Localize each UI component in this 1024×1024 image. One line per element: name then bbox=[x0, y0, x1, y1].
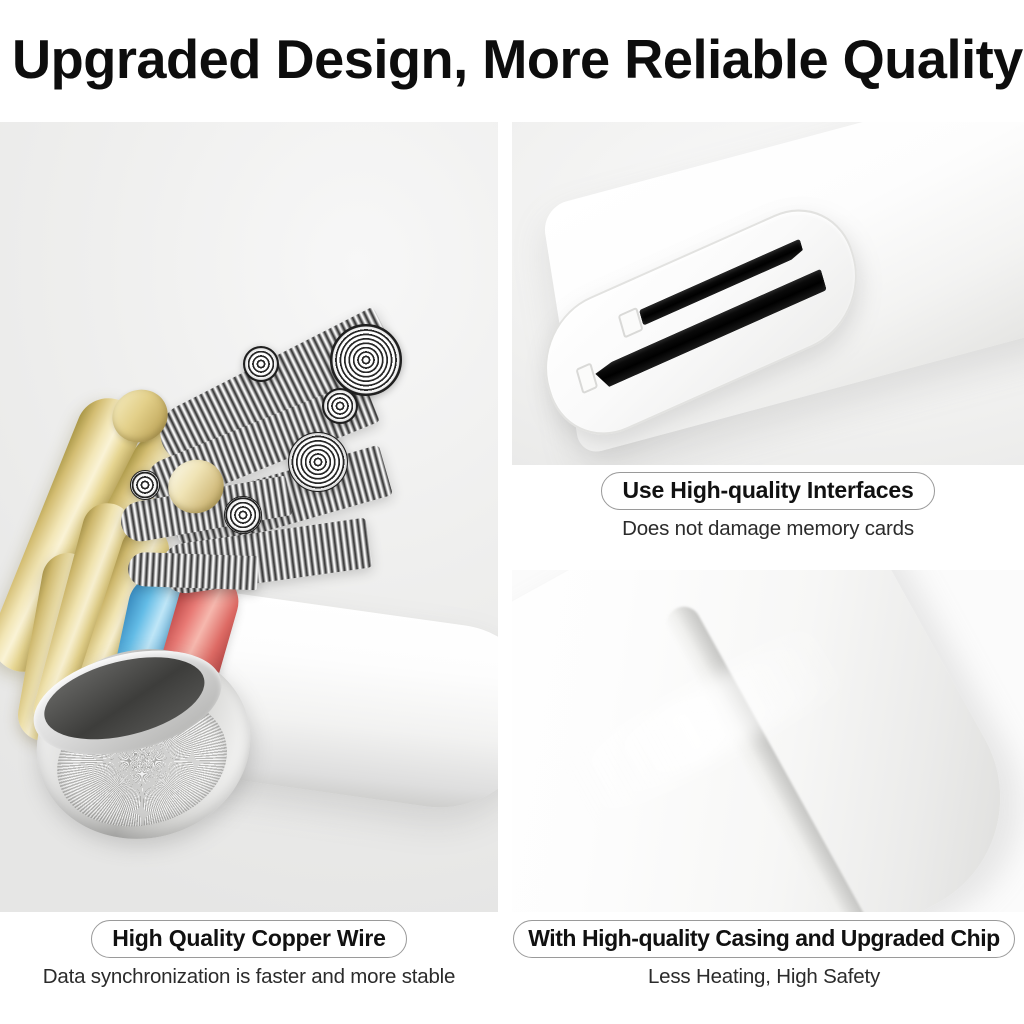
strand-face-1 bbox=[330, 324, 402, 396]
caption-sub-casing: Less Heating, High Safety bbox=[504, 965, 1024, 989]
white-casing-corner-photo bbox=[512, 570, 1024, 912]
title-bar: Upgraded Design, More Reliable Quality bbox=[0, 0, 1024, 118]
slot-notch-left bbox=[575, 362, 598, 394]
card-reader-interface-photo bbox=[512, 122, 1024, 465]
panel-interfaces bbox=[512, 122, 1024, 465]
caption-copper-wire: High Quality Copper Wire Data synchroniz… bbox=[0, 920, 498, 989]
panel-casing bbox=[512, 570, 1024, 912]
strand-face-5 bbox=[224, 496, 262, 534]
strand-face-3 bbox=[288, 432, 348, 492]
strand-face-6 bbox=[130, 470, 160, 500]
strand-face-2 bbox=[243, 346, 279, 382]
caption-sub-copper-wire: Data synchronization is faster and more … bbox=[0, 965, 498, 989]
page-title: Upgraded Design, More Reliable Quality bbox=[12, 32, 1023, 87]
caption-pill-copper-wire: High Quality Copper Wire bbox=[91, 920, 407, 958]
caption-sub-interfaces: Does not damage memory cards bbox=[512, 517, 1024, 541]
cable-cross-section-photo bbox=[0, 122, 498, 912]
caption-interfaces: Use High-quality Interfaces Does not dam… bbox=[512, 472, 1024, 541]
panel-copper-wire bbox=[0, 122, 498, 912]
caption-pill-casing: With High-quality Casing and Upgraded Ch… bbox=[513, 920, 1015, 958]
strand-bundle-6 bbox=[127, 552, 258, 591]
caption-casing: With High-quality Casing and Upgraded Ch… bbox=[504, 920, 1024, 989]
strand-face-4 bbox=[322, 388, 358, 424]
caption-pill-interfaces: Use High-quality Interfaces bbox=[601, 472, 934, 510]
